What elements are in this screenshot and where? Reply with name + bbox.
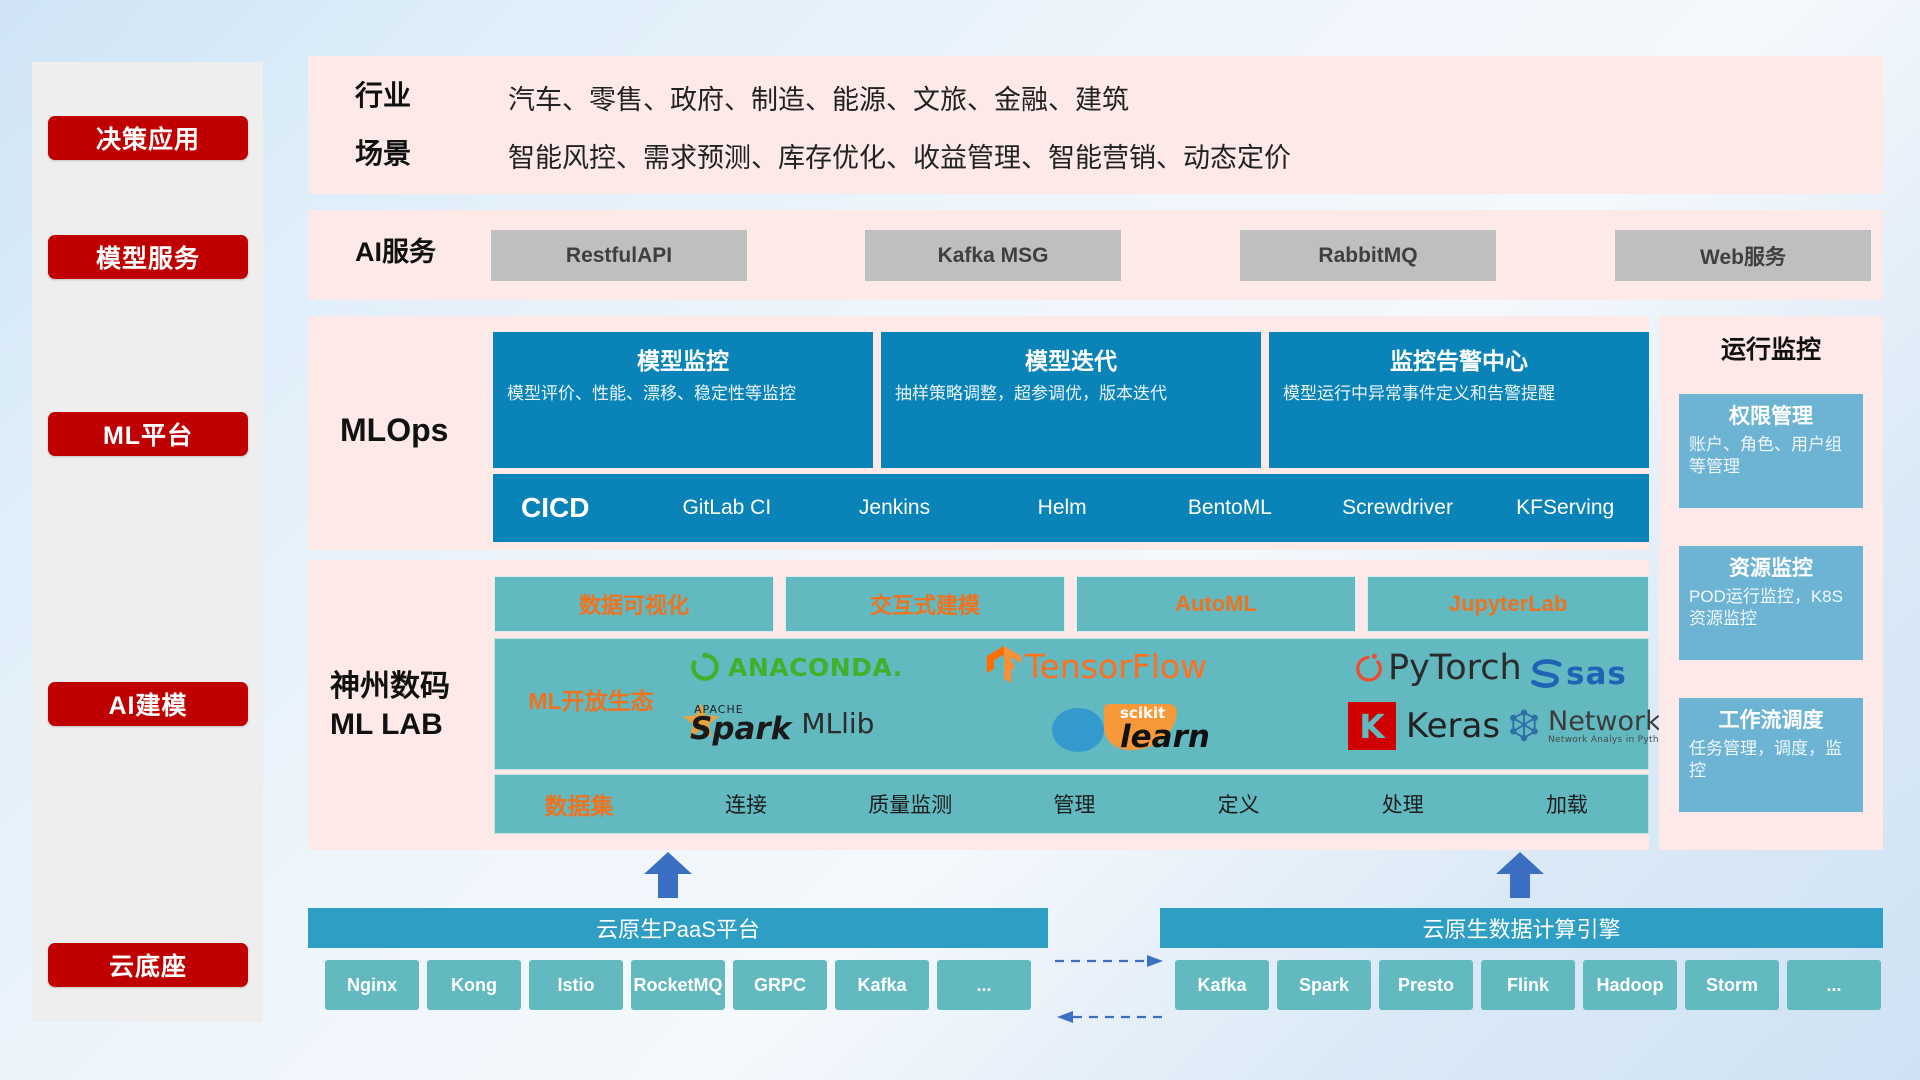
dataset-item-manage[interactable]: 管理 <box>992 789 1156 819</box>
tech-chip-label: Flink <box>1507 975 1549 996</box>
tab-jupyterlab[interactable]: JupyterLab <box>1367 576 1649 632</box>
cicd-item-gitlab-ci[interactable]: GitLab CI <box>643 493 811 523</box>
tech-chip-grpc[interactable]: GRPC <box>733 960 827 1010</box>
paas-platform-bar[interactable]: 云原生PaaS平台 <box>308 908 1048 948</box>
service-item-kafka-msg[interactable]: Kafka MSG <box>865 230 1121 281</box>
tab-label: AutoML <box>1175 591 1257 617</box>
ml-lab-label-line1: 神州数码 <box>330 668 450 706</box>
ml-lab-label-line2: ML LAB <box>330 706 450 744</box>
card-desc: 任务管理，调度，监控 <box>1689 738 1853 782</box>
stage-rail <box>32 62 263 1022</box>
ai-service-label: AI服务 <box>355 236 436 270</box>
up-arrow-data-engine <box>1492 852 1548 898</box>
stage-label: ML平台 <box>103 416 193 452</box>
tech-chip-hadoop[interactable]: Hadoop <box>1583 960 1677 1010</box>
sas-logo: sas <box>1529 656 1627 692</box>
scenario-value: 智能风控、需求预测、库存优化、收益管理、智能营销、动态定价 <box>508 136 1291 175</box>
ops-card-workflow[interactable]: 工作流调度 任务管理，调度，监控 <box>1679 698 1863 812</box>
stage-label: 云底座 <box>109 947 187 983</box>
stage-label: 决策应用 <box>96 120 200 156</box>
card-title: 权限管理 <box>1689 400 1853 430</box>
cicd-item-bentoml[interactable]: BentoML <box>1146 493 1314 523</box>
stage-chip-decision-app[interactable]: 决策应用 <box>48 116 248 160</box>
card-title: 工作流调度 <box>1689 704 1853 734</box>
card-desc: 模型评价、性能、漂移、稳定性等监控 <box>507 383 859 406</box>
stage-label: AI建模 <box>108 686 187 722</box>
cicd-item-jenkins[interactable]: Jenkins <box>811 493 979 523</box>
service-item-rabbitmq[interactable]: RabbitMQ <box>1240 230 1496 281</box>
tech-chip-kafka-right[interactable]: Kafka <box>1175 960 1269 1010</box>
tech-chip-kong[interactable]: Kong <box>427 960 521 1010</box>
tech-chip-label: Kafka <box>857 975 906 996</box>
dashed-arrow-left <box>1055 1008 1165 1026</box>
tab-interactive-modeling[interactable]: 交互式建模 <box>785 576 1065 632</box>
service-item-label: Web服务 <box>1700 241 1786 271</box>
cicd-bar[interactable]: CICD GitLab CI Jenkins Helm BentoML Scre… <box>493 474 1649 542</box>
scikit-learn-logo: scikit learn <box>1048 700 1198 754</box>
tech-chip-rocketmq[interactable]: RocketMQ <box>631 960 725 1010</box>
card-title: 资源监控 <box>1689 552 1853 582</box>
ops-card-resource[interactable]: 资源监控 POD运行监控，K8S资源监控 <box>1679 546 1863 660</box>
decision-app-band: 行业 汽车、零售、政府、制造、能源、文旅、金融、建筑 场景 智能风控、需求预测、… <box>308 56 1883 194</box>
tech-chip-flink[interactable]: Flink <box>1481 960 1575 1010</box>
card-title: 模型监控 <box>507 342 859 376</box>
ml-lab-band: 神州数码 ML LAB 数据可视化 交互式建模 AutoML JupyterLa… <box>308 560 1649 850</box>
stage-chip-cloud-base[interactable]: 云底座 <box>48 943 248 987</box>
tab-label: 交互式建模 <box>870 588 980 620</box>
tab-label: 数据可视化 <box>579 588 689 620</box>
tech-chip-kafka-left[interactable]: Kafka <box>835 960 929 1010</box>
card-title: 监控告警中心 <box>1283 342 1635 376</box>
ops-monitor-title: 运行监控 <box>1659 330 1883 366</box>
ml-lab-label: 神州数码 ML LAB <box>330 668 450 743</box>
dataset-item-define[interactable]: 定义 <box>1157 789 1321 819</box>
cicd-title: CICD <box>493 492 643 524</box>
service-item-label: RabbitMQ <box>1318 244 1417 268</box>
mlops-card-model-iteration[interactable]: 模型迭代 抽样策略调整，超参调优，版本迭代 <box>881 332 1261 468</box>
scenario-label: 场景 <box>355 136 411 171</box>
tensorflow-logo-text: TensorFlow <box>1025 647 1207 686</box>
pytorch-logo: PyTorch <box>1354 648 1522 688</box>
tech-chip-label: ... <box>976 975 991 996</box>
dataset-bar[interactable]: 数据集 连接 质量监测 管理 定义 处理 加载 <box>494 774 1649 834</box>
spark-logo-text: Spark <box>690 716 791 744</box>
tech-chip-label: Hadoop <box>1597 975 1664 996</box>
card-desc: 抽样策略调整，超参调优，版本迭代 <box>895 383 1247 406</box>
tech-chip-istio[interactable]: Istio <box>529 960 623 1010</box>
data-engine-bar[interactable]: 云原生数据计算引擎 <box>1160 908 1883 948</box>
tech-chip-label: ... <box>1826 975 1841 996</box>
dataset-title: 数据集 <box>494 787 664 821</box>
industry-value: 汽车、零售、政府、制造、能源、文旅、金融、建筑 <box>508 78 1129 117</box>
service-item-label: RestfulAPI <box>566 244 672 268</box>
card-desc: 账户、角色、用户组等管理 <box>1689 434 1853 478</box>
tech-chip-label: Storm <box>1706 975 1758 996</box>
mllib-text: MLlib <box>801 707 874 740</box>
tech-chip-label: Presto <box>1398 975 1454 996</box>
card-desc: 模型运行中异常事件定义和告警提醒 <box>1283 383 1635 406</box>
ml-ecosystem-label: ML开放生态 <box>516 687 666 717</box>
tech-chip-label: Istio <box>557 975 594 996</box>
tech-chip-storm[interactable]: Storm <box>1685 960 1779 1010</box>
networkx-logo: NetworkX Network Analys in Python <box>1504 706 1679 746</box>
service-item-restfulapi[interactable]: RestfulAPI <box>491 230 747 281</box>
card-title: 模型迭代 <box>895 342 1247 376</box>
keras-logo-text: Keras <box>1406 706 1500 746</box>
stage-chip-ai-modeling[interactable]: AI建模 <box>48 682 248 726</box>
tensorflow-logo: TensorFlow <box>986 646 1207 686</box>
tech-chip-label: Kafka <box>1197 975 1246 996</box>
dataset-item-connect[interactable]: 连接 <box>664 789 828 819</box>
stage-chip-model-service[interactable]: 模型服务 <box>48 235 248 279</box>
up-arrow-paas <box>640 852 696 898</box>
card-desc: POD运行监控，K8S资源监控 <box>1689 586 1853 630</box>
paas-platform-label: 云原生PaaS平台 <box>596 912 760 944</box>
tab-automl[interactable]: AutoML <box>1076 576 1356 632</box>
tech-chip-label: Nginx <box>347 975 397 996</box>
tech-chip-presto[interactable]: Presto <box>1379 960 1473 1010</box>
stage-chip-ml-platform[interactable]: ML平台 <box>48 412 248 456</box>
sas-logo-text: sas <box>1566 656 1627 692</box>
keras-logo: K Keras <box>1348 702 1500 750</box>
industry-label: 行业 <box>355 78 411 113</box>
model-service-band: AI服务 RestfulAPI Kafka MSG RabbitMQ Web服务 <box>308 210 1883 300</box>
dataset-item-process[interactable]: 处理 <box>1321 789 1485 819</box>
diagram-canvas: 决策应用 模型服务 ML平台 AI建模 云底座 行业 汽车、零售、政府、制造、能… <box>0 0 1920 1080</box>
tech-chip-nginx[interactable]: Nginx <box>325 960 419 1010</box>
cicd-item-kfserving[interactable]: KFServing <box>1481 493 1649 523</box>
mlops-band: MLOps 模型监控 模型评价、性能、漂移、稳定性等监控 模型迭代 抽样策略调整… <box>308 316 1649 550</box>
mlops-card-alert-center[interactable]: 监控告警中心 模型运行中异常事件定义和告警提醒 <box>1269 332 1649 468</box>
service-item-web[interactable]: Web服务 <box>1615 230 1871 281</box>
tab-label: JupyterLab <box>1449 591 1568 617</box>
dataset-item-load[interactable]: 加载 <box>1485 789 1649 819</box>
tech-chip-more-right[interactable]: ... <box>1787 960 1881 1010</box>
spark-mllib-logo: APACHE Spark MLlib <box>678 700 874 746</box>
tech-chip-more-left[interactable]: ... <box>937 960 1031 1010</box>
anaconda-logo-text: ANACONDA. <box>728 653 903 682</box>
stage-label: 模型服务 <box>96 239 200 275</box>
pytorch-logo-text: PyTorch <box>1388 648 1522 688</box>
service-item-label: Kafka MSG <box>938 244 1049 268</box>
tech-chip-label: RocketMQ <box>634 975 723 996</box>
dashed-arrow-right <box>1055 952 1165 970</box>
tech-chip-label: GRPC <box>754 975 806 996</box>
tech-chip-spark[interactable]: Spark <box>1277 960 1371 1010</box>
mlops-card-model-monitor[interactable]: 模型监控 模型评价、性能、漂移、稳定性等监控 <box>493 332 873 468</box>
tech-chip-label: Spark <box>1299 975 1349 996</box>
cicd-item-helm[interactable]: Helm <box>978 493 1146 523</box>
tech-chip-label: Kong <box>451 975 497 996</box>
mlops-label: MLOps <box>340 410 448 450</box>
learn-text: learn <box>1120 722 1210 753</box>
dataset-item-quality-monitor[interactable]: 质量监测 <box>828 789 992 819</box>
data-engine-label: 云原生数据计算引擎 <box>1422 912 1620 944</box>
anaconda-logo: ANACONDA. <box>688 650 903 684</box>
keras-mark: K <box>1348 702 1396 750</box>
tab-data-visualization[interactable]: 数据可视化 <box>494 576 774 632</box>
ops-card-permission[interactable]: 权限管理 账户、角色、用户组等管理 <box>1679 394 1863 508</box>
keras-mark-letter: K <box>1359 707 1385 746</box>
cicd-item-screwdriver[interactable]: Screwdriver <box>1314 493 1482 523</box>
